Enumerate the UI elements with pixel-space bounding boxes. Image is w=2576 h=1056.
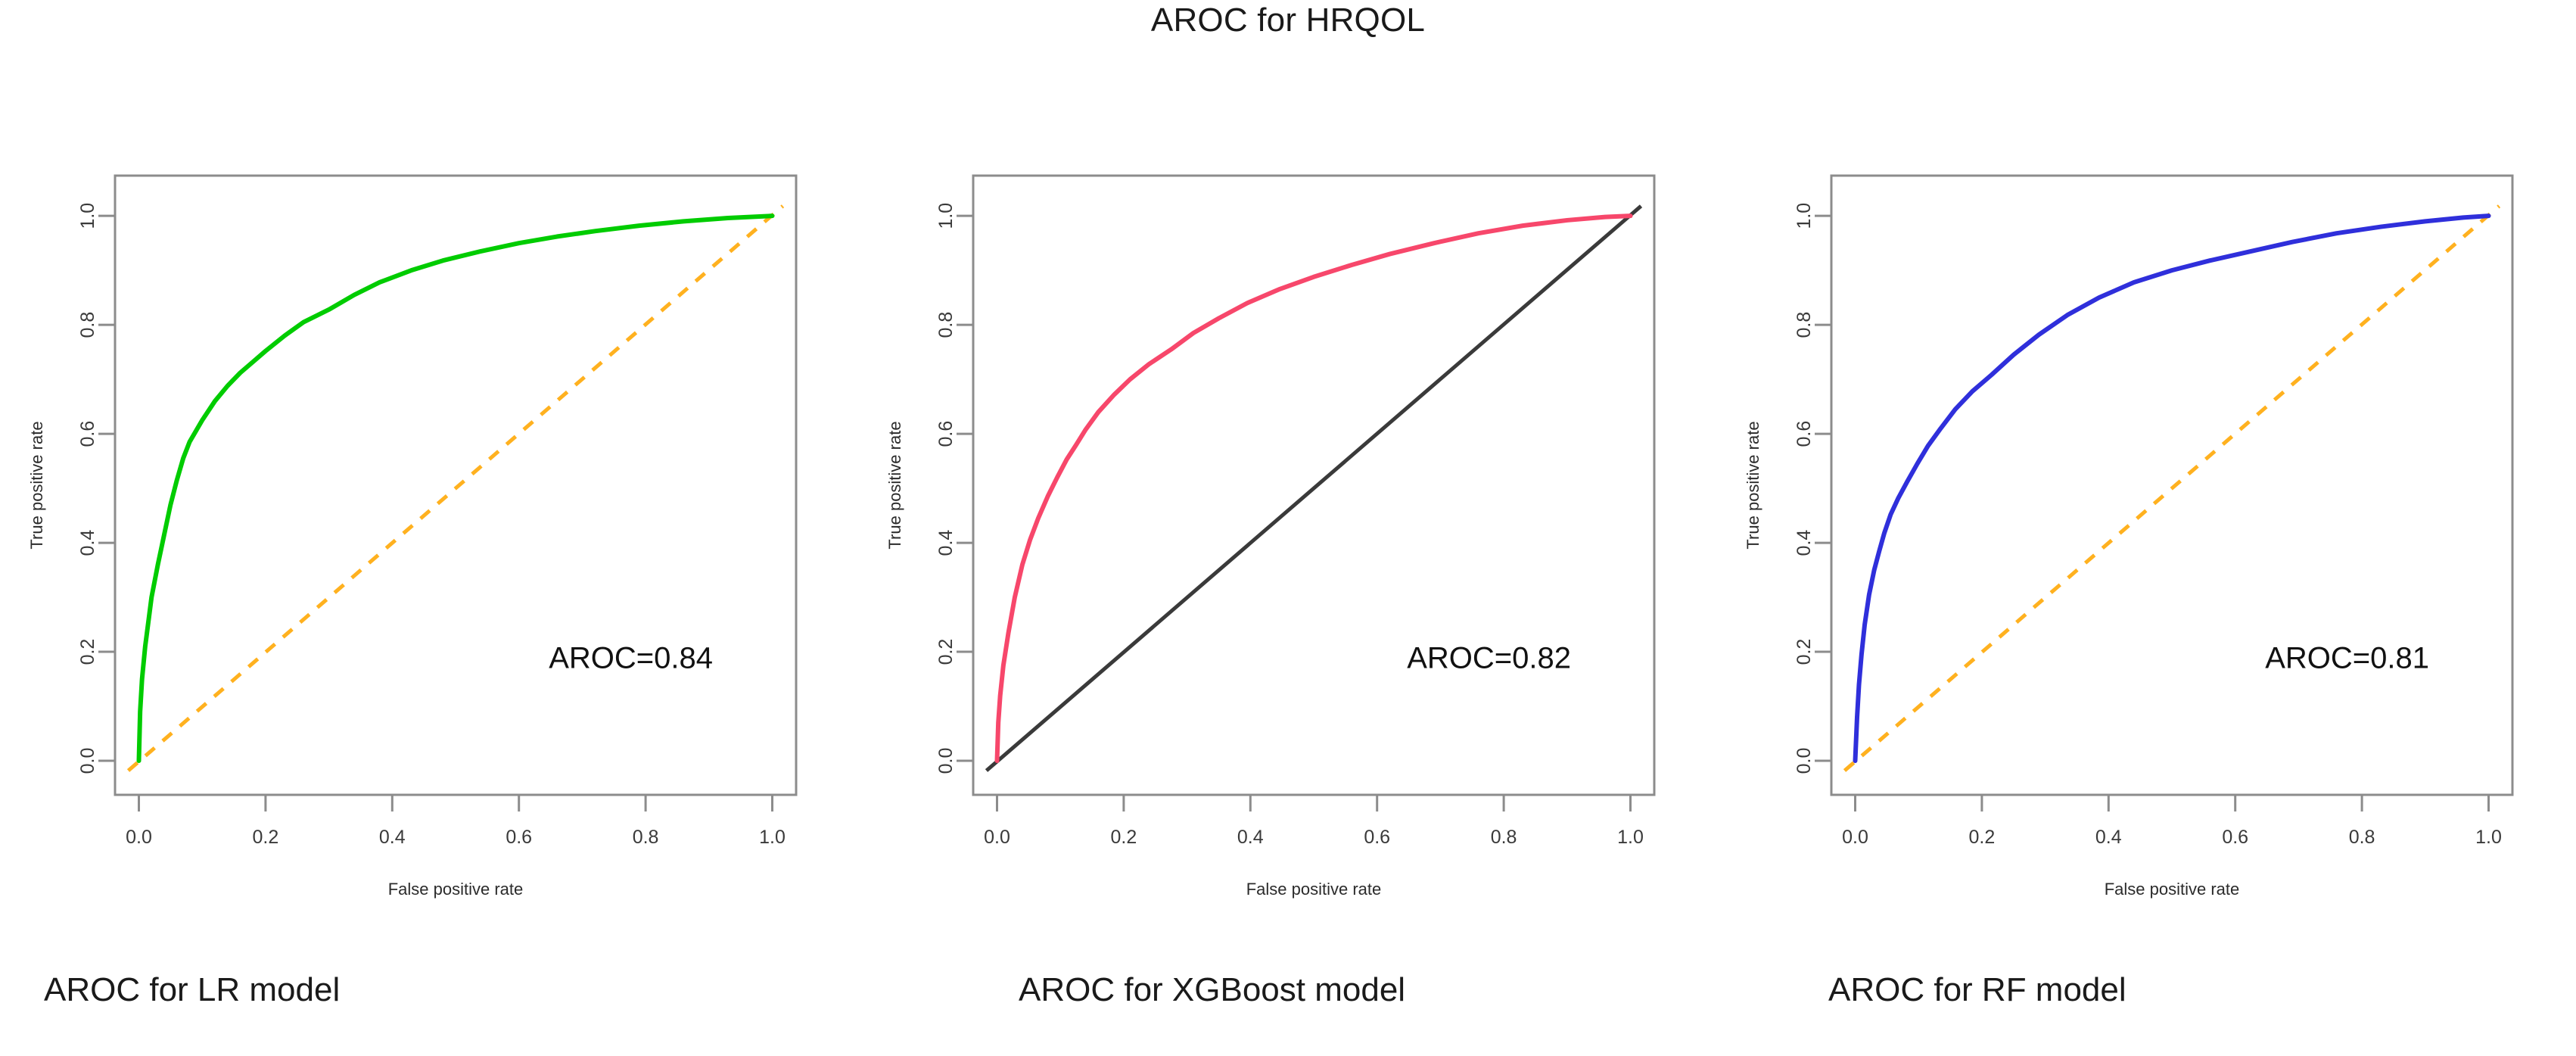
x-tick-label: 1.0 xyxy=(1617,827,1644,848)
y-tick-label: 0.6 xyxy=(935,421,957,447)
caption-rf: AROC for RF model xyxy=(1828,971,2126,1009)
x-tick-label: 0.0 xyxy=(126,827,152,848)
reference-diagonal-line xyxy=(987,206,1641,771)
aroc-annotation: AROC=0.81 xyxy=(2265,642,2429,675)
y-tick-label: 0.6 xyxy=(77,421,98,447)
chart-body-rf: 0.00.20.40.60.81.00.00.20.40.60.81.0Fals… xyxy=(1744,176,2512,899)
x-tick-label: 0.0 xyxy=(984,827,1010,848)
y-tick-label: 0.4 xyxy=(1794,530,1815,556)
caption-cell-xgboost: AROC for XGBoost model xyxy=(858,965,1716,1048)
plot-box-frame xyxy=(973,176,1654,795)
x-tick-label: 0.2 xyxy=(253,827,279,848)
y-tick-label: 0.2 xyxy=(1794,639,1815,665)
x-tick-label: 0.4 xyxy=(2095,827,2122,848)
y-tick-label: 0.8 xyxy=(77,312,98,338)
chart-body-xgboost: 0.00.20.40.60.81.00.00.20.40.60.81.0Fals… xyxy=(885,176,1654,899)
y-tick-label: 0.0 xyxy=(77,748,98,774)
x-tick-label: 0.0 xyxy=(1842,827,1868,848)
roc-panel-xgboost: 0.00.20.40.60.81.00.00.20.40.60.81.0Fals… xyxy=(858,114,1716,939)
caption-cell-rf: AROC for RF model xyxy=(1716,965,2574,1048)
y-tick-label: 0.2 xyxy=(935,639,957,665)
x-tick-label: 0.6 xyxy=(1364,827,1390,848)
x-tick-label: 0.4 xyxy=(379,827,406,848)
roc-chart-lr: 0.00.20.40.60.81.00.00.20.40.60.81.0Fals… xyxy=(0,114,858,939)
x-tick-label: 0.8 xyxy=(633,827,659,848)
y-tick-label: 1.0 xyxy=(1794,203,1815,229)
y-tick-label: 1.0 xyxy=(77,203,98,229)
y-axis-title: True positive rate xyxy=(27,421,46,549)
page-title: AROC for HRQOL xyxy=(0,2,2576,39)
y-axis-title: True positive rate xyxy=(1744,421,1762,549)
x-tick-label: 0.6 xyxy=(2222,827,2248,848)
caption-xgboost: AROC for XGBoost model xyxy=(1019,971,1405,1009)
y-tick-label: 0.0 xyxy=(935,748,957,774)
x-axis-title: False positive rate xyxy=(1246,880,1382,899)
x-tick-label: 1.0 xyxy=(759,827,786,848)
y-tick-label: 0.0 xyxy=(1794,748,1815,774)
x-tick-label: 0.2 xyxy=(1969,827,1996,848)
x-tick-label: 0.2 xyxy=(1111,827,1137,848)
y-tick-label: 0.8 xyxy=(935,312,957,338)
y-tick-label: 1.0 xyxy=(935,203,957,229)
y-tick-label: 0.2 xyxy=(77,639,98,665)
x-tick-label: 0.4 xyxy=(1237,827,1264,848)
caption-cell-lr: AROC for LR model xyxy=(0,965,858,1048)
x-tick-label: 0.6 xyxy=(506,827,532,848)
x-axis-title: False positive rate xyxy=(2105,880,2240,899)
x-tick-label: 0.8 xyxy=(1491,827,1517,848)
y-tick-label: 0.6 xyxy=(1794,421,1815,447)
roc-panel-lr: 0.00.20.40.60.81.00.00.20.40.60.81.0Fals… xyxy=(0,114,858,939)
reference-diagonal-line xyxy=(129,206,783,771)
y-tick-label: 0.4 xyxy=(935,530,957,556)
caption-row: AROC for LR model AROC for XGBoost model… xyxy=(0,965,2576,1048)
y-tick-label: 0.8 xyxy=(1794,312,1815,338)
plot-box-frame xyxy=(115,176,796,795)
y-axis-title: True positive rate xyxy=(885,421,904,549)
x-axis-title: False positive rate xyxy=(388,880,524,899)
roc-chart-rf: 0.00.20.40.60.81.00.00.20.40.60.81.0Fals… xyxy=(1716,114,2574,939)
caption-lr: AROC for LR model xyxy=(44,971,340,1009)
roc-chart-xgboost: 0.00.20.40.60.81.00.00.20.40.60.81.0Fals… xyxy=(858,114,1716,939)
x-tick-label: 0.8 xyxy=(2349,827,2375,848)
roc-panel-rf: 0.00.20.40.60.81.00.00.20.40.60.81.0Fals… xyxy=(1716,114,2574,939)
roc-panel-row: 0.00.20.40.60.81.00.00.20.40.60.81.0Fals… xyxy=(0,114,2576,939)
y-tick-label: 0.4 xyxy=(77,530,98,556)
aroc-annotation: AROC=0.82 xyxy=(1407,642,1571,675)
x-tick-label: 1.0 xyxy=(2475,827,2502,848)
reference-diagonal-line xyxy=(1845,206,2500,771)
chart-body-lr: 0.00.20.40.60.81.00.00.20.40.60.81.0Fals… xyxy=(27,176,796,899)
aroc-annotation: AROC=0.84 xyxy=(549,642,713,675)
